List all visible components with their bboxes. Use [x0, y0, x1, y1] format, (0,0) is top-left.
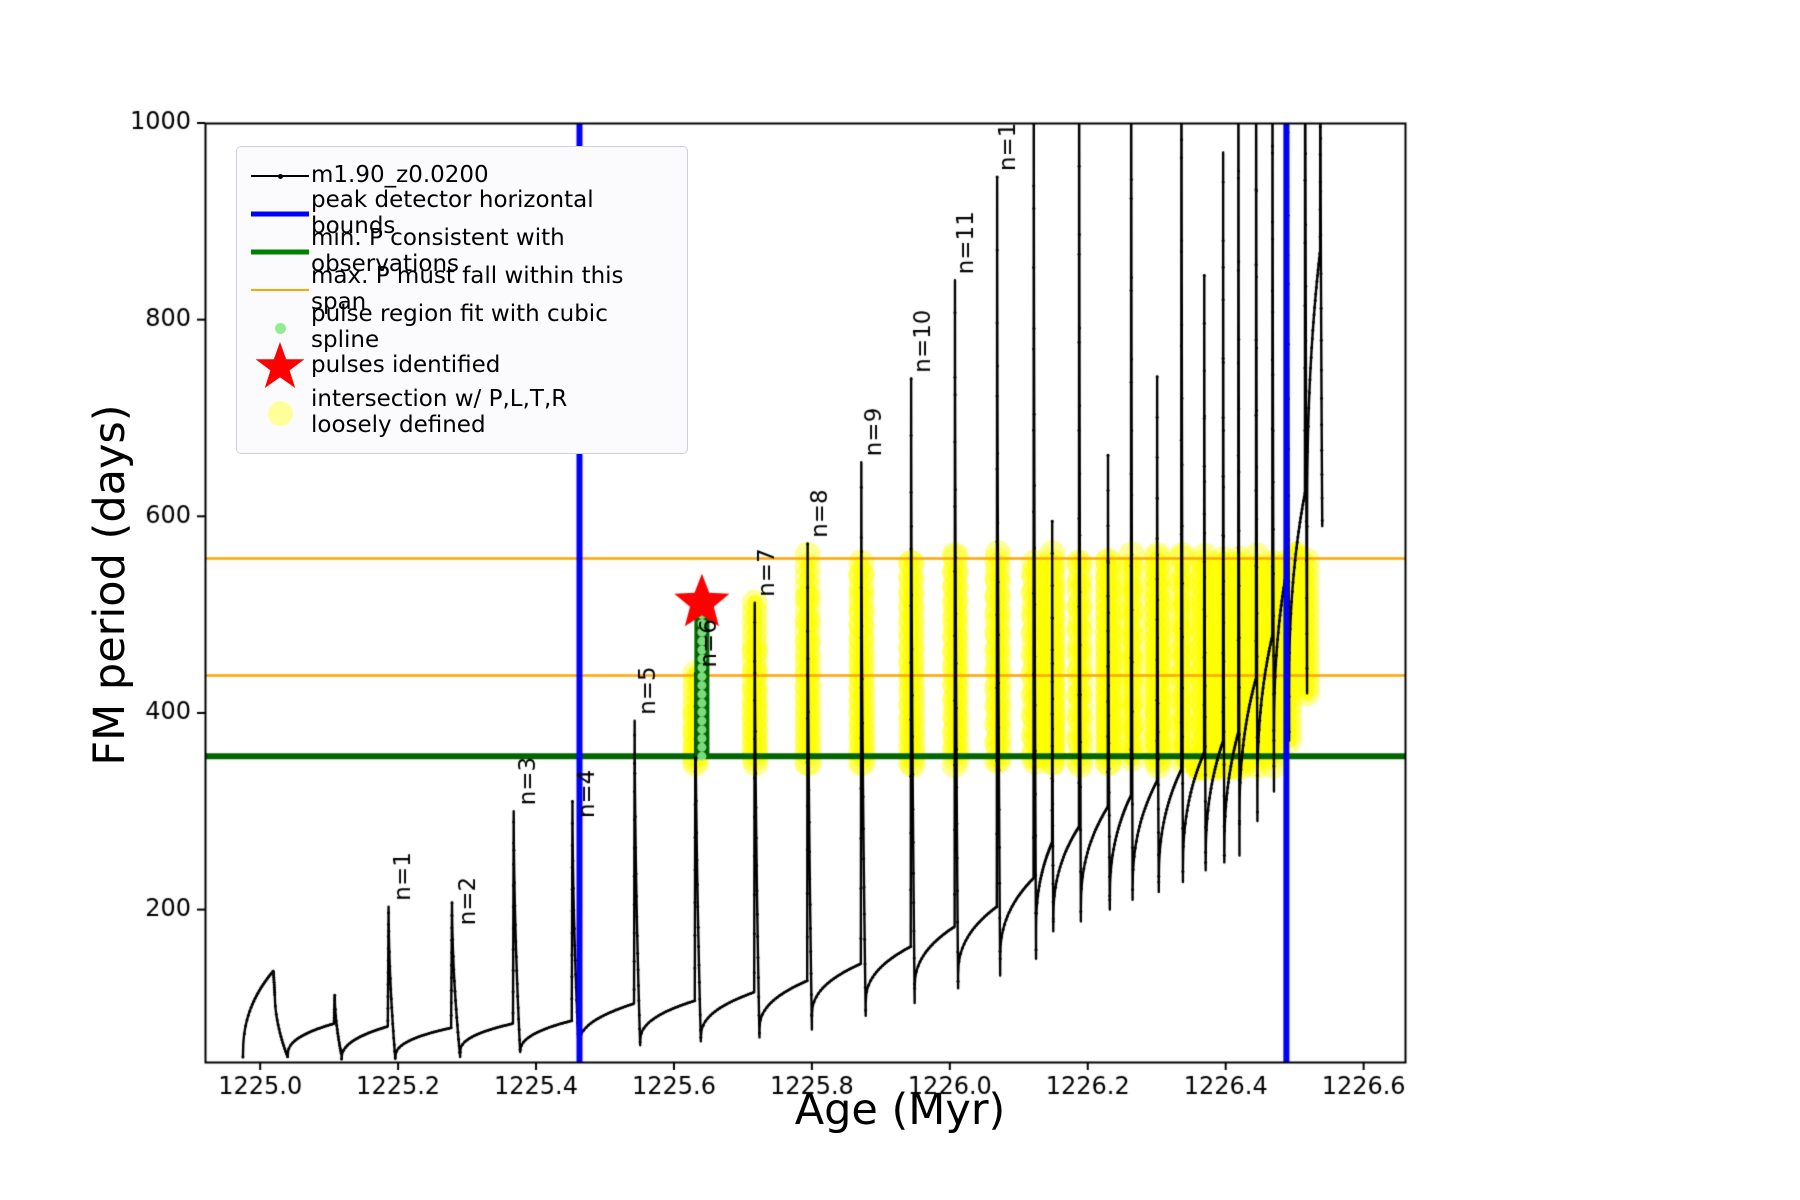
line-orange-icon: [249, 271, 311, 309]
legend-label-intersection: intersection w/ P,L,T,R loosely defined: [311, 387, 567, 439]
legend-label-spline: pulse region fit with cubic spline: [311, 302, 675, 354]
legend-item-intersection: intersection w/ P,L,T,R loosely defined: [249, 385, 675, 441]
legend-label-model: m1.90_z0.0200: [311, 163, 489, 189]
figure-canvas-container: FM period (days) Age (Myr) m1.90_z0.0200…: [0, 0, 1800, 1200]
chart-legend: m1.90_z0.0200 peak detector horizontal b…: [236, 146, 688, 454]
y-axis-title: FM period (days): [85, 235, 135, 935]
line-blue-icon: [249, 195, 311, 233]
dot-yellow-icon: [249, 394, 311, 432]
line-marker-black-icon: [249, 157, 311, 195]
x-axis-title: Age (Myr): [0, 1085, 1800, 1135]
legend-item-spline: pulse region fit with cubic spline: [249, 309, 675, 347]
star-red-icon: [249, 347, 311, 385]
line-green-icon: [249, 233, 311, 271]
legend-label-pulses: pulses identified: [311, 353, 500, 379]
